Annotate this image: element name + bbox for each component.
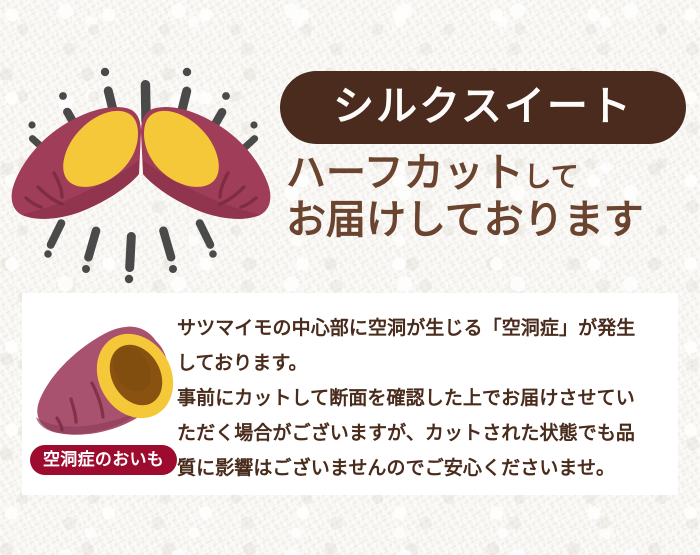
status-badge: 空洞症のおいも <box>30 445 177 475</box>
notice-body-line: ただく場合がございますが、カットされた状態でも品 <box>177 416 672 451</box>
notice-body-line: サツマイモの中心部に空洞が生じる「空洞症」が発生 <box>177 311 672 346</box>
notice-body-line: 事前にカットして断面を確認した上でお届けさせてい <box>177 381 672 416</box>
notice-body: サツマイモの中心部に空洞が生じる「空洞症」が発生 しております。 事前にカットし… <box>177 311 672 486</box>
subtitle-block: ハーフカットして お届けしております <box>286 152 696 242</box>
notice-body-line: しております。 <box>177 346 672 381</box>
notice-body-line: 質に影響はございませんのでご安心くださいませ。 <box>177 451 672 486</box>
subtitle-line-2: お届けしております <box>286 199 696 242</box>
promo-banner: シルクスイート ハーフカットして お届けしております <box>0 0 700 555</box>
subtitle-line-1: ハーフカットして <box>286 152 696 195</box>
product-name-label: シルクスイート <box>333 86 633 127</box>
subtitle-line-1-lead: ハーフカット <box>286 150 524 196</box>
halved-sweet-potatoes-icon <box>10 22 272 284</box>
subtitle-line-1-tail: して <box>524 160 579 193</box>
notice-card: 空洞症のおいも サツマイモの中心部に空洞が生じる「空洞症」が発生 しております。… <box>22 293 678 495</box>
status-badge-label: 空洞症のおいも <box>43 452 164 469</box>
product-name-pill: シルクスイート <box>280 71 686 144</box>
cut-sweet-potato-hollow-icon <box>30 301 182 451</box>
sparkle-dashes-bottom <box>44 218 217 283</box>
